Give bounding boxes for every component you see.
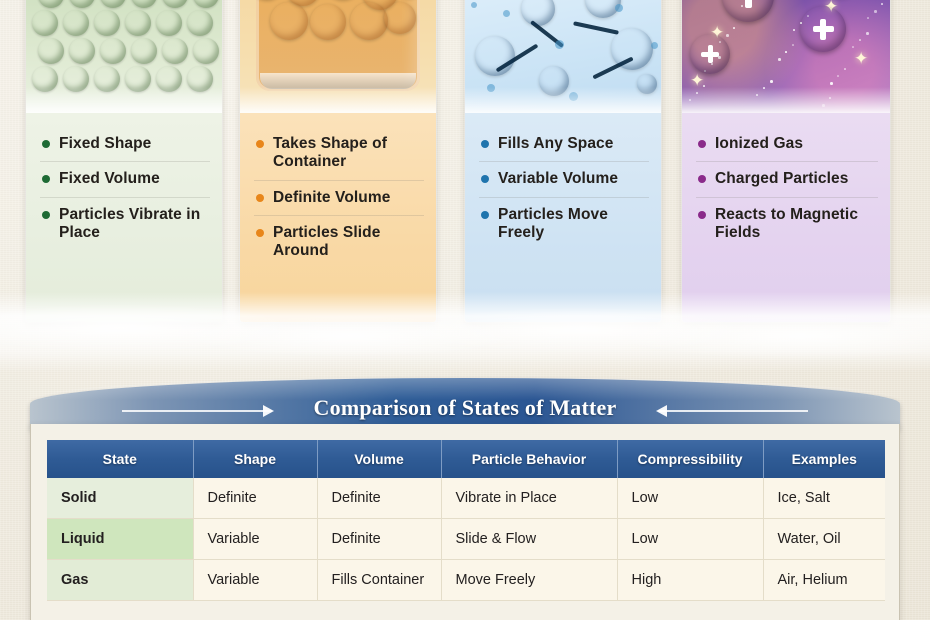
feature-label: Reacts to Magnetic Fields [715, 206, 876, 243]
bullet-icon [42, 175, 50, 183]
bullet-icon [481, 211, 489, 219]
bullet-icon [481, 140, 489, 148]
feature-item: Ionized Gas [696, 127, 878, 161]
column-header-compressibility: Compressibility [617, 440, 763, 478]
table-row: Gas Variable Fills Container Move Freely… [47, 560, 885, 601]
charged-particle-icon [800, 6, 846, 52]
state-cards: Fixed Shape Fixed Volume Particles Vibra… [0, 0, 930, 328]
feature-label: Ionized Gas [715, 135, 803, 153]
liquid-illustration [240, 0, 436, 113]
feature-label: Particles Vibrate in Place [59, 206, 208, 243]
feature-label: Particles Slide Around [273, 224, 422, 261]
bullet-icon [698, 175, 706, 183]
feature-item: Takes Shape of Container [254, 127, 424, 180]
feature-item: Reacts to Magnetic Fields [696, 197, 878, 251]
cell-shape: Variable [193, 519, 317, 560]
star-speck [785, 51, 787, 53]
cell-behavior: Move Freely [441, 560, 617, 601]
table-head: State Shape Volume Particle Behavior Com… [47, 440, 885, 478]
lattice-sphere [94, 10, 120, 36]
cell-examples: Water, Oil [763, 519, 885, 560]
bullet-icon [42, 140, 50, 148]
lattice-sphere [125, 10, 151, 36]
state-card-gas[interactable]: Fills Any Space Variable Volume Particle… [465, 0, 661, 322]
solid-illustration [26, 0, 222, 113]
cell-shape: Definite [193, 478, 317, 519]
cell-compressibility: High [617, 560, 763, 601]
column-header-examples: Examples [763, 440, 885, 478]
plasma-feature-list: Ionized Gas Charged Particles Reacts to … [682, 113, 890, 322]
liquid-sphere [384, 2, 416, 34]
gas-sphere [521, 0, 555, 26]
feature-label: Fills Any Space [498, 135, 614, 153]
liquid-feature-list: Takes Shape of Container Definite Volume… [240, 113, 436, 322]
plasma-illustration: ✦✦✦✦✦ [682, 0, 890, 113]
feature-item: Particles Vibrate in Place [40, 197, 210, 251]
feature-item: Fixed Volume [40, 161, 210, 196]
cell-shape: Variable [193, 560, 317, 601]
comparison-banner: Comparison of States of Matter [30, 378, 900, 430]
cell-compressibility: Low [617, 478, 763, 519]
sparkle-icon: ✦ [854, 50, 868, 67]
gas-speck [471, 2, 477, 8]
cell-volume: Definite [317, 478, 441, 519]
lattice-sphere [131, 0, 157, 8]
plus-icon [701, 45, 719, 63]
gas-speck [503, 10, 510, 17]
charged-particle-icon [722, 0, 774, 22]
star-speck [874, 10, 877, 13]
star-speck [837, 75, 839, 77]
bullet-icon [42, 211, 50, 219]
feature-item: Charged Particles [696, 161, 878, 196]
lattice-sphere [38, 38, 64, 64]
star-speck [778, 58, 781, 61]
bullet-icon [698, 140, 706, 148]
lattice-sphere [100, 38, 126, 64]
feature-label: Charged Particles [715, 170, 849, 188]
plus-icon [736, 0, 760, 8]
star-speck [793, 29, 795, 31]
comparison-table-panel: State Shape Volume Particle Behavior Com… [30, 424, 900, 620]
charged-particle-icon [690, 34, 730, 74]
table-body: Solid Definite Definite Vibrate in Place… [47, 478, 885, 601]
table-header-row: State Shape Volume Particle Behavior Com… [47, 440, 885, 478]
cell-examples: Air, Helium [763, 560, 885, 601]
star-speck [733, 27, 735, 29]
lattice-sphere [131, 38, 157, 64]
bullet-icon [256, 229, 264, 237]
lattice-sphere [193, 38, 219, 64]
liquid-sphere [270, 2, 308, 40]
feature-label: Definite Volume [273, 189, 390, 207]
gas-sphere [611, 28, 653, 70]
bond-line [573, 21, 619, 34]
gas-feature-list: Fills Any Space Variable Volume Particle… [465, 113, 661, 322]
gas-speck [651, 42, 658, 49]
lattice-sphere [100, 0, 126, 8]
lattice-sphere [162, 38, 188, 64]
feature-item: Definite Volume [254, 180, 424, 215]
lattice-sphere [69, 38, 95, 64]
solid-feature-list: Fixed Shape Fixed Volume Particles Vibra… [26, 113, 222, 322]
star-speck [830, 82, 833, 85]
comparison-table: State Shape Volume Particle Behavior Com… [47, 440, 885, 601]
frost-overlay [26, 87, 222, 113]
table-row: Solid Definite Definite Vibrate in Place… [47, 478, 885, 519]
state-card-plasma[interactable]: ✦✦✦✦✦ Ionized Gas Charged Particles Reac… [682, 0, 890, 322]
lattice-sphere [63, 10, 89, 36]
frost-overlay [240, 87, 436, 113]
bullet-icon [481, 175, 489, 183]
star-speck [844, 68, 846, 70]
gas-illustration [465, 0, 661, 113]
column-header-volume: Volume [317, 440, 441, 478]
banner-title: Comparison of States of Matter [30, 395, 900, 421]
column-header-state: State [47, 440, 193, 478]
bullet-icon [256, 194, 264, 202]
feature-label: Fixed Shape [59, 135, 151, 153]
feature-item: Fills Any Space [479, 127, 649, 161]
star-speck [881, 3, 883, 5]
cell-state: Gas [47, 560, 193, 601]
feature-label: Variable Volume [498, 170, 618, 188]
lattice-sphere [187, 10, 213, 36]
star-speck [852, 46, 854, 48]
lattice-sphere [156, 10, 182, 36]
column-header-shape: Shape [193, 440, 317, 478]
feature-label: Fixed Volume [59, 170, 160, 188]
cell-volume: Fills Container [317, 560, 441, 601]
feature-label: Takes Shape of Container [273, 135, 422, 172]
feature-item: Particles Move Freely [479, 197, 649, 251]
cell-compressibility: Low [617, 519, 763, 560]
plus-icon [813, 19, 834, 40]
state-card-liquid[interactable]: Takes Shape of Container Definite Volume… [240, 0, 436, 322]
lattice-sphere [193, 0, 219, 8]
bullet-icon [698, 211, 706, 219]
cell-state: Solid [47, 478, 193, 519]
feature-item: Fixed Shape [40, 127, 210, 161]
infographic-stage: Fixed Shape Fixed Volume Particles Vibra… [0, 0, 930, 620]
cell-state: Liquid [47, 519, 193, 560]
star-speck [726, 34, 729, 37]
lattice-sphere [162, 0, 188, 8]
star-speck [770, 80, 773, 83]
liquid-sphere [310, 4, 346, 40]
star-speck [792, 44, 794, 46]
lattice-sphere [38, 0, 64, 8]
liquid-sphere [350, 2, 388, 40]
column-header-particle-behavior: Particle Behavior [441, 440, 617, 478]
cell-volume: Definite [317, 519, 441, 560]
gas-sphere [475, 36, 515, 76]
bullet-icon [256, 140, 264, 148]
cell-examples: Ice, Salt [763, 478, 885, 519]
frost-overlay [465, 87, 661, 113]
lattice-sphere [32, 10, 58, 36]
table-row: Liquid Variable Definite Slide & Flow Lo… [47, 519, 885, 560]
lattice-sphere [69, 0, 95, 8]
jar-shape [256, 0, 420, 91]
cell-behavior: Vibrate in Place [441, 478, 617, 519]
star-speck [866, 32, 869, 35]
cell-behavior: Slide & Flow [441, 519, 617, 560]
state-card-solid[interactable]: Fixed Shape Fixed Volume Particles Vibra… [26, 0, 222, 322]
star-speck [867, 17, 869, 19]
gas-speck [555, 40, 564, 49]
frost-overlay [682, 87, 890, 113]
star-speck [859, 39, 861, 41]
gas-speck [615, 4, 623, 12]
feature-item: Particles Slide Around [254, 215, 424, 269]
feature-label: Particles Move Freely [498, 206, 647, 243]
feature-item: Variable Volume [479, 161, 649, 196]
